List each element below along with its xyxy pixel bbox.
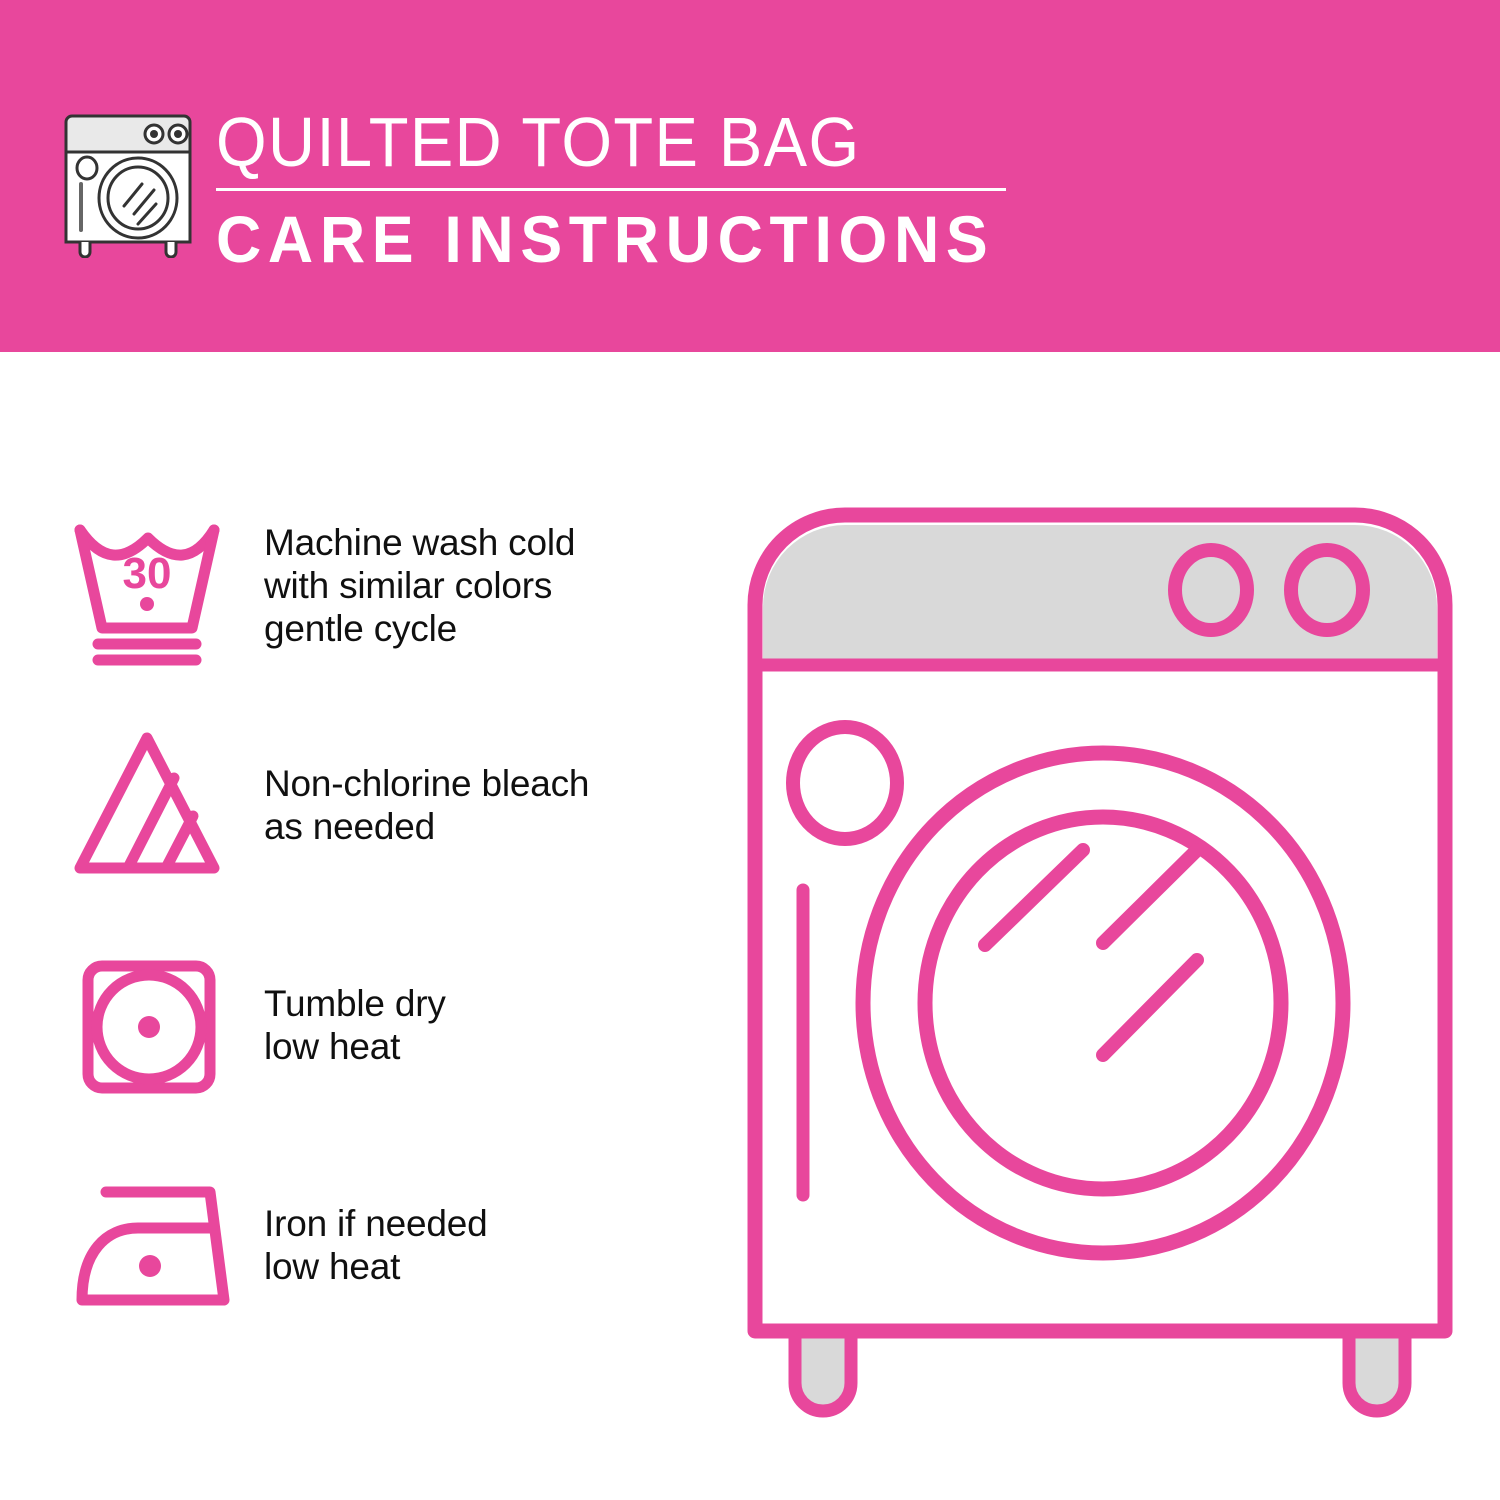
header-text-block: QUILTED TOTE BAG CARE INSTRUCTIONS (216, 104, 1016, 275)
care-text-line: low heat (264, 1025, 722, 1068)
care-text-line: with similar colors (264, 564, 722, 607)
page-title: QUILTED TOTE BAG (216, 104, 960, 180)
header-divider (216, 188, 1006, 191)
header-banner: QUILTED TOTE BAG CARE INSTRUCTIONS (0, 0, 1500, 352)
care-text-line: as needed (264, 805, 722, 848)
care-text-line: Iron if needed (264, 1202, 722, 1245)
care-item-machine-wash: 30 Machine wash cold with similar colors… (62, 500, 722, 670)
machine-wash-30-gentle-icon: 30 (62, 500, 242, 670)
care-item-label: Machine wash cold with similar colors ge… (242, 521, 722, 650)
non-chlorine-bleach-icon (62, 720, 242, 890)
care-item-label: Non-chlorine bleach as needed (242, 762, 722, 848)
care-item-iron: Iron if needed low heat (62, 1160, 722, 1330)
care-instructions-list: 30 Machine wash cold with similar colors… (62, 500, 722, 1380)
tumble-dry-low-icon (62, 940, 242, 1110)
care-text-line: Machine wash cold (264, 521, 722, 564)
iron-low-heat-icon (62, 1160, 242, 1330)
washing-machine-icon (62, 106, 194, 258)
large-washing-machine-illustration (735, 495, 1465, 1435)
care-text-line: gentle cycle (264, 607, 722, 650)
page-subtitle: CARE INSTRUCTIONS (216, 203, 976, 275)
care-instructions-page: QUILTED TOTE BAG CARE INSTRUCTIONS (0, 0, 1500, 1500)
wash-temperature-label: 30 (123, 549, 172, 598)
care-item-label: Tumble dry low heat (242, 982, 722, 1068)
care-text-line: Non-chlorine bleach (264, 762, 722, 805)
care-item-bleach: Non-chlorine bleach as needed (62, 720, 722, 890)
care-text-line: Tumble dry (264, 982, 722, 1025)
care-item-label: Iron if needed low heat (242, 1202, 722, 1288)
care-item-tumble-dry: Tumble dry low heat (62, 940, 722, 1110)
care-text-line: low heat (264, 1245, 722, 1288)
